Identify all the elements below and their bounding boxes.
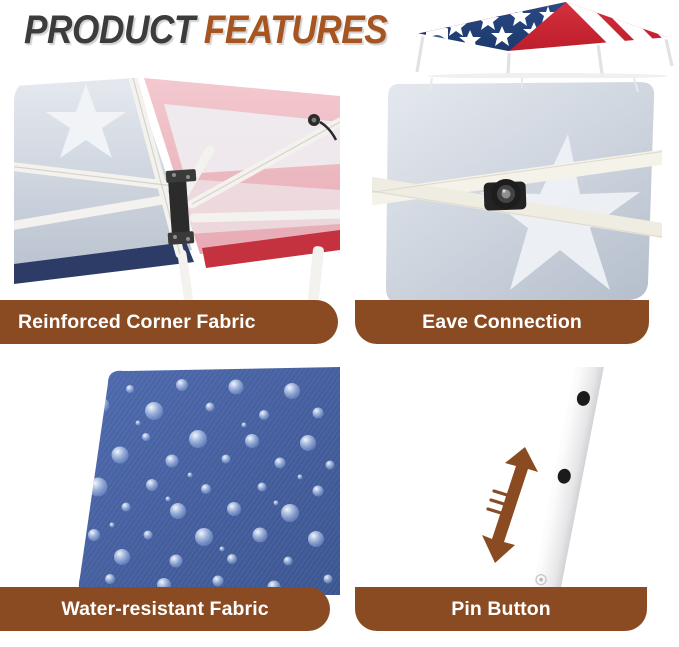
water-resistant-fabric-photo [78,367,340,595]
feature-label-text: Reinforced Corner Fabric [18,311,256,334]
product-features-infographic: PRODUCTFEATURES [0,0,679,647]
feature-card-pin-button: Pin Button [355,360,679,630]
feature-card-eave-connection: Eave Connection [355,78,679,346]
feature-card-water-resistant-fabric: Water-resistant Fabric [0,360,340,630]
feature-label-eave-connection: Eave Connection [355,300,649,344]
feature-label-pin-button: Pin Button [355,587,647,631]
feature-label-reinforced-corner-fabric: Reinforced Corner Fabric [0,300,338,344]
feature-label-text: Water-resistant Fabric [61,598,268,621]
hero-canopy-image [398,0,679,78]
eave-connection-photo [372,78,662,310]
page-title-word-product: PRODUCT [24,8,195,52]
feature-card-reinforced-corner-fabric: Reinforced Corner Fabric [0,78,340,346]
feature-label-text: Eave Connection [422,311,582,334]
reinforced-corner-fabric-photo [14,78,340,310]
feature-label-text: Pin Button [451,598,551,621]
feature-label-water-resistant-fabric: Water-resistant Fabric [0,587,330,631]
page-title: PRODUCTFEATURES [24,8,387,53]
page-title-word-features: FEATURES [204,8,388,52]
pin-button-photo [397,367,679,595]
